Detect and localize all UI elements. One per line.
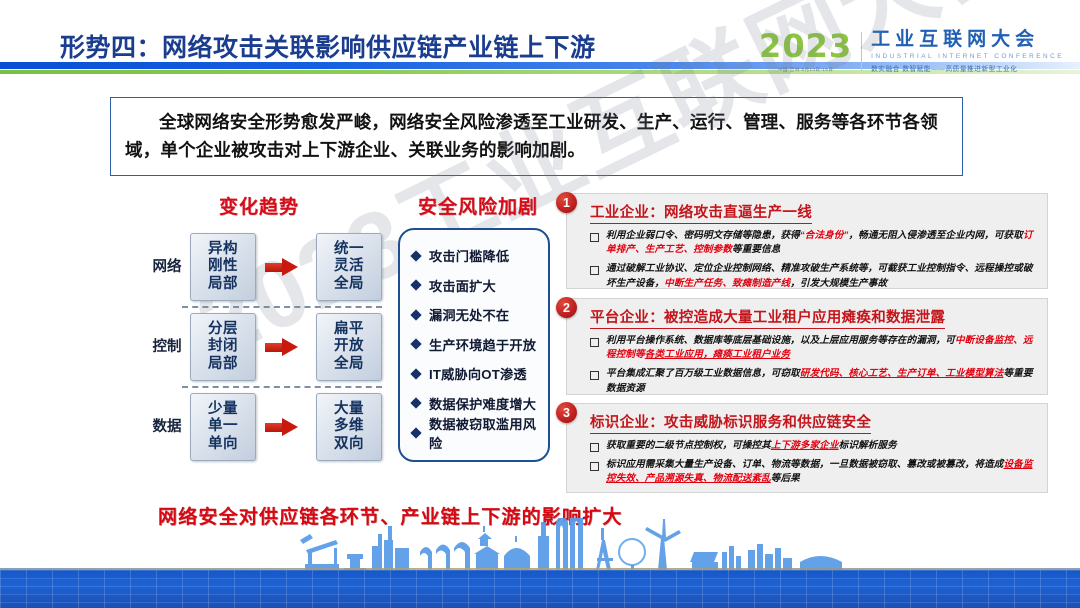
logo-name-en: INDUSTRIAL INTERNET CONFERENCE: [871, 53, 1064, 60]
block-number-badge: 1: [556, 192, 577, 213]
block-bullet-text: 利用企业弱口令、密码明文存储等隐患，获得“合法身份”，畅通无阻入侵渗透至企业内网…: [606, 229, 1038, 257]
block-title: 工业企业：网络攻击直逼生产一线: [590, 201, 812, 224]
block-bullet-text: 获取重要的二级节点控制权，可操控其上下游多家企业标识解析服务: [606, 439, 897, 453]
node-line: 封闭: [208, 338, 238, 355]
block-bullet: 标识应用需采集大量生产设备、订单、物流等数据，一旦数据被窃取、篡改或被篡改，将造…: [590, 458, 1038, 486]
trend-node-to: 统一 灵活 全局: [316, 233, 382, 301]
node-line: 大量: [334, 401, 364, 418]
square-bullet-icon: [590, 233, 599, 242]
diamond-bullet-icon: [410, 368, 421, 379]
node-line: 双向: [334, 436, 364, 453]
block-number-badge: 3: [556, 402, 577, 423]
conference-logo: 2023 中国·吉林 8月14日-18日 工业互联网大会 INDUSTRIAL …: [759, 30, 1064, 73]
square-bullet-icon: [590, 462, 599, 471]
risk-item: 攻击门槛降低: [412, 241, 548, 271]
risk-item-label: IT威胁向OT渗透: [429, 364, 527, 383]
node-line: 全局: [334, 276, 364, 293]
block-bullet: 利用企业弱口令、密码明文存储等隐患，获得“合法身份”，畅通无阻入侵渗透至企业内网…: [590, 229, 1038, 257]
arrow-right-icon: [265, 258, 299, 277]
diamond-bullet-icon: [410, 339, 421, 350]
logo-year: 2023: [759, 30, 852, 62]
threat-block: 2 平台企业：被控造成大量工业租户应用瘫痪和数据泄露 利用平台操作系统、数据库等…: [566, 298, 1048, 395]
threat-block: 3 标识企业：攻击威胁标识服务和供应链安全 获取重要的二级节点控制权，可操控其上…: [566, 403, 1048, 493]
node-line: 灵活: [334, 258, 364, 275]
risk-item-label: 数据保护难度增大: [429, 394, 536, 413]
logo-name-cn: 工业互联网大会: [871, 30, 1064, 50]
skyline-decoration: [0, 518, 1080, 608]
trend-diagram: 网络 异构 刚性 局部 统一 灵活 全局 控制 分层 封闭 局部 扁平 开放 全…: [152, 228, 387, 466]
risk-item: 攻击面扩大: [412, 271, 548, 301]
risk-item: 数据被窃取滥用风险: [412, 418, 548, 448]
risk-item: 漏洞无处不在: [412, 300, 548, 330]
square-bullet-icon: [590, 338, 599, 347]
block-bullet: 利用平台操作系统、数据库等底层基础设施，以及上层应用服务等存在的漏洞，可中断设备…: [590, 334, 1038, 362]
block-bullet-text: 通过破解工业协议、定位企业控制网络、精准攻破生产系统等，可截获工业控制指令、远程…: [606, 262, 1038, 290]
summary-text: 全球网络安全形势愈发严峻，网络安全风险渗透至工业研发、生产、运行、管理、服务等各…: [125, 109, 948, 164]
arrow-right-icon: [265, 338, 299, 357]
node-line: 局部: [208, 356, 238, 373]
node-line: 局部: [208, 276, 238, 293]
block-title: 标识企业：攻击威胁标识服务和供应链安全: [590, 411, 871, 434]
logo-name-group: 工业互联网大会 INDUSTRIAL INTERNET CONFERENCE 数…: [862, 30, 1064, 73]
trend-node-to: 大量 多维 双向: [316, 393, 382, 461]
ground-grid: [0, 570, 1080, 608]
block-title: 平台企业：被控造成大量工业租户应用瘫痪和数据泄露: [590, 306, 945, 329]
block-number-badge: 2: [556, 297, 577, 318]
block-bullet: 获取重要的二级节点控制权，可操控其上下游多家企业标识解析服务: [590, 439, 1038, 453]
logo-slogan: 数实融合 数智赋能——高质量推进新型工业化: [871, 63, 1064, 73]
risk-item-label: 攻击门槛降低: [429, 246, 509, 265]
logo-year-group: 2023 中国·吉林 8月14日-18日: [759, 30, 861, 73]
risk-heading: 安全风险加剧: [418, 192, 538, 219]
block-bullet: 通过破解工业协议、定位企业控制网络、精准攻破生产系统等，可截获工业控制指令、远程…: [590, 262, 1038, 290]
node-line: 开放: [334, 338, 364, 355]
node-line: 扁平: [334, 321, 364, 338]
node-line: 刚性: [208, 258, 238, 275]
page-title: 形势四：网络攻击关联影响供应链产业链上下游: [60, 28, 596, 64]
diamond-bullet-icon: [410, 398, 421, 409]
risk-item-label: 数据被窃取滥用风险: [429, 414, 548, 452]
node-line: 单向: [208, 436, 238, 453]
node-line: 异构: [208, 241, 238, 258]
block-bullet-text: 平台集成汇聚了百万级工业数据信息，可窃取研发代码、核心工艺、生产订单、工业模型算…: [606, 367, 1038, 395]
square-bullet-icon: [590, 443, 599, 452]
risk-item-label: 攻击面扩大: [429, 276, 496, 295]
node-line: 少量: [208, 401, 238, 418]
square-bullet-icon: [590, 371, 599, 380]
risk-item-label: 漏洞无处不在: [429, 305, 509, 324]
summary-box: 全球网络安全形势愈发严峻，网络安全风险渗透至工业研发、生产、运行、管理、服务等各…: [110, 97, 963, 176]
node-line: 分层: [208, 321, 238, 338]
trend-node-from: 少量 单一 单向: [190, 393, 256, 461]
trend-node-from: 分层 封闭 局部: [190, 313, 256, 381]
logo-date-location: 中国·吉林 8月14日-18日: [778, 67, 833, 73]
trend-row-label: 数据: [152, 419, 182, 435]
block-bullet-text: 标识应用需采集大量生产设备、订单、物流等数据，一旦数据被窃取、篡改或被篡改，将造…: [606, 458, 1038, 486]
risk-panel: 攻击门槛降低 攻击面扩大 漏洞无处不在 生产环境趋于开放 IT威胁向OT渗透 数…: [398, 228, 550, 462]
trend-row-label: 网络: [152, 259, 182, 275]
node-line: 多维: [334, 418, 364, 435]
square-bullet-icon: [590, 266, 599, 275]
trend-heading: 变化趋势: [219, 192, 299, 219]
risk-item: IT威胁向OT渗透: [412, 359, 548, 389]
node-line: 全局: [334, 356, 364, 373]
node-line: 单一: [208, 418, 238, 435]
trend-node-to: 扁平 开放 全局: [316, 313, 382, 381]
block-bullet: 平台集成汇聚了百万级工业数据信息，可窃取研发代码、核心工艺、生产订单、工业模型算…: [590, 367, 1038, 395]
trend-row-label: 控制: [152, 339, 182, 355]
diamond-bullet-icon: [410, 427, 421, 438]
trend-row: 网络 异构 刚性 局部 统一 灵活 全局: [152, 228, 387, 306]
arrow-right-icon: [265, 418, 299, 437]
risk-item: 生产环境趋于开放: [412, 330, 548, 360]
node-line: 统一: [334, 241, 364, 258]
trend-row: 控制 分层 封闭 局部 扁平 开放 全局: [152, 308, 387, 386]
threat-block: 1 工业企业：网络攻击直逼生产一线 利用企业弱口令、密码明文存储等隐患，获得“合…: [566, 193, 1048, 289]
skyline-silhouette-icon: [0, 518, 1080, 574]
block-bullet-text: 利用平台操作系统、数据库等底层基础设施，以及上层应用服务等存在的漏洞，可中断设备…: [606, 334, 1038, 362]
diamond-bullet-icon: [410, 250, 421, 261]
trend-row: 数据 少量 单一 单向 大量 多维 双向: [152, 388, 387, 466]
diamond-bullet-icon: [410, 280, 421, 291]
diamond-bullet-icon: [410, 309, 421, 320]
risk-item-label: 生产环境趋于开放: [429, 335, 536, 354]
trend-node-from: 异构 刚性 局部: [190, 233, 256, 301]
